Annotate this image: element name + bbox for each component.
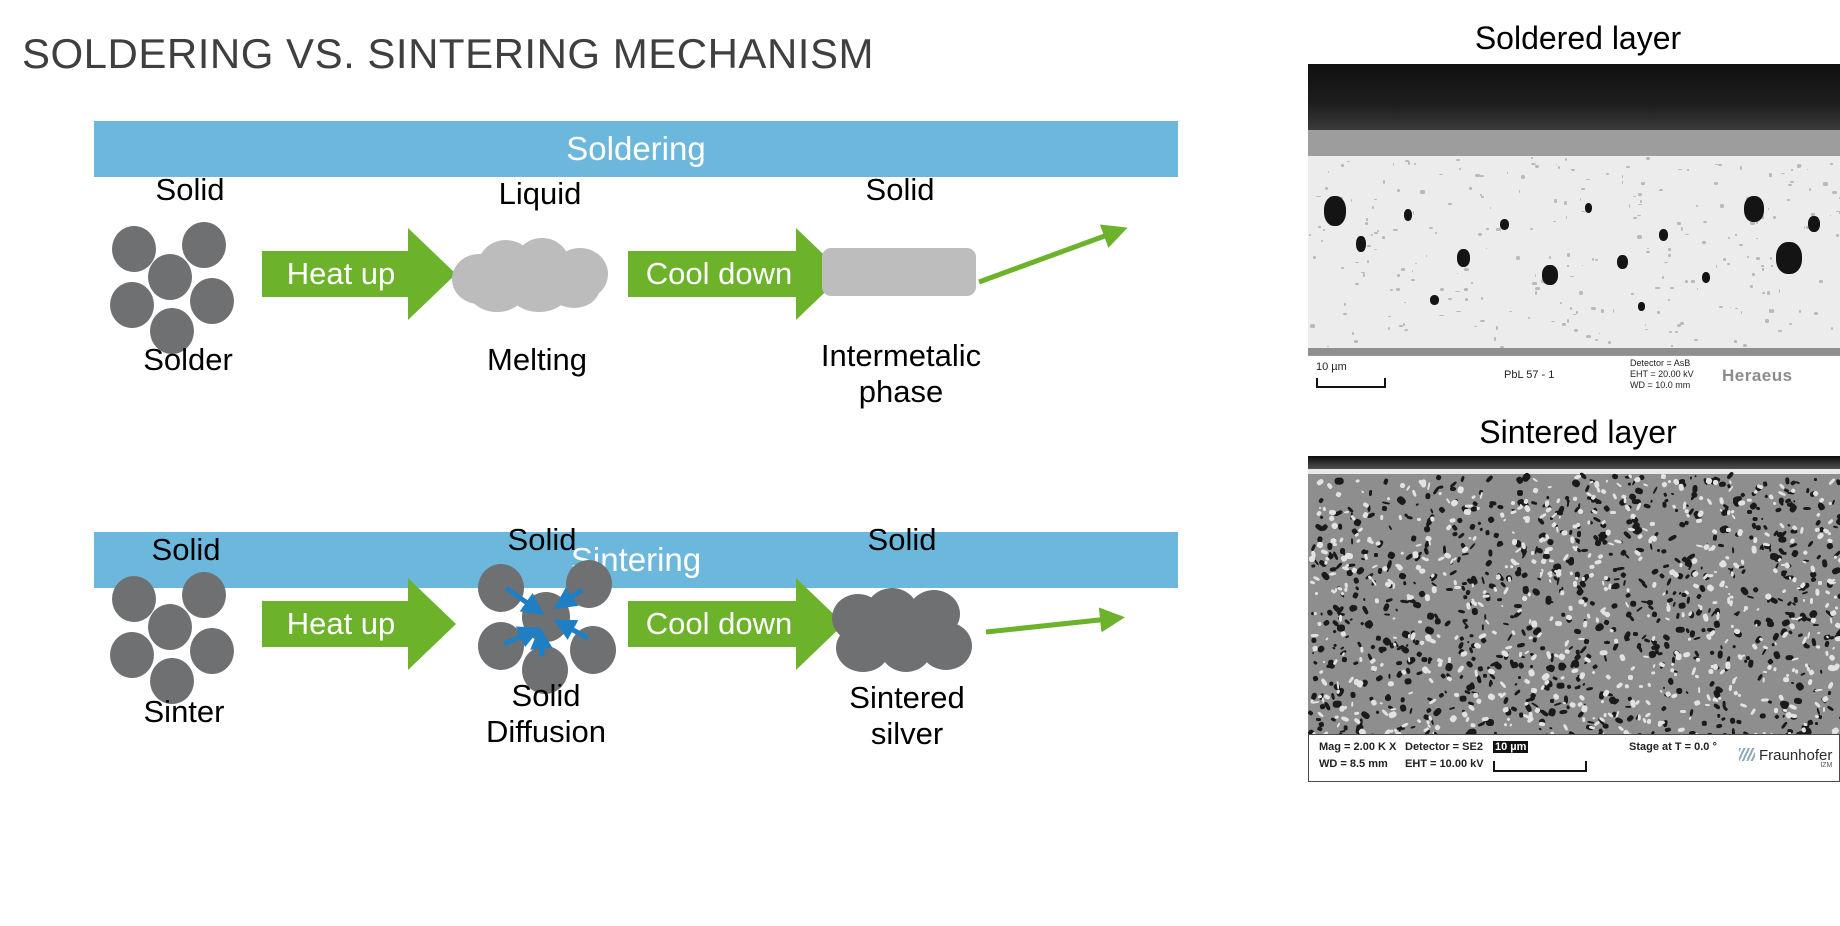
fraunhofer-mark-icon [1739,748,1755,761]
particle [148,604,192,650]
step-name-solid-diffusion: Solid Diffusion [448,678,644,749]
caption-eht: EHT = 20.00 kV [1630,369,1694,379]
micrograph-sintered-layer: Mag = 2.00 K X WD = 8.5 mm Detector = SE… [1308,456,1840,782]
particle [112,226,156,272]
particle [182,222,226,268]
particle [570,626,616,674]
caption-stage-tilt: Stage at T = 0.0 ° [1629,741,1717,753]
micrograph-soldered-image: 10 µm PbL 57 - 1 Detector = AsB EHT = 20… [1308,64,1840,394]
step-name-intermetallic-phase: Intermetalic phase [808,338,994,409]
particle [478,622,524,670]
micrograph-title-soldered: Soldered layer [1318,20,1838,48]
micrograph-title-sintered: Sintered layer [1318,414,1838,442]
section-header-soldering-label: Soldering [566,130,705,168]
step-name-melting: Melting [442,342,632,378]
particle [190,278,234,324]
transition-label-cool-down-soldering: Cool down [628,256,848,292]
step-name-solder: Solder [98,342,278,378]
shape-solder-powder [110,222,260,342]
brand-heraeus-logo: Heraeus [1722,366,1793,386]
particle [182,572,226,618]
transition-arrow-heat-up-soldering: Heat up [262,228,458,320]
step-name-sinter: Sinter [94,694,274,730]
particle [110,632,154,678]
particle [566,560,612,608]
state-label-imc-solid: Solid [810,172,990,208]
slide-canvas: SOLDERING VS. SINTERING MECHANISM Solder… [0,0,1840,926]
page-title: SOLDERING VS. SINTERING MECHANISM [22,30,874,78]
particle [110,282,154,328]
micrograph-sintered-image: Mag = 2.00 K X WD = 8.5 mm Detector = SE… [1308,456,1840,782]
scale-bar [1316,378,1386,388]
state-label-solder-solid: Solid [100,172,280,208]
caption-sample-id: PbL 57 - 1 [1504,369,1554,381]
transition-arrow-heat-up-sintering: Heat up [262,578,458,670]
micrograph-soldered-caption: 10 µm PbL 57 - 1 Detector = AsB EHT = 20… [1308,355,1840,394]
section-header-soldering: Soldering [94,121,1178,177]
step-name-sintered-silver: Sintered silver [812,680,1002,751]
connector-arrow-to-soldered-layer [975,220,1135,290]
micrograph-sintered-caption: Mag = 2.00 K X WD = 8.5 mm Detector = SE… [1308,734,1840,782]
transition-label-heat-up-sintering: Heat up [262,606,458,642]
state-label-melting-liquid: Liquid [450,176,630,212]
shape-diffusion-cluster [478,560,638,694]
state-label-sinter-solid: Solid [96,532,276,568]
caption-eht: EHT = 10.00 kV [1405,758,1484,770]
shape-sinter-powder [110,572,260,694]
caption-detector: Detector = SE2 [1405,741,1483,753]
caption-detector: Detector = AsB [1630,358,1690,368]
state-label-sintered-solid: Solid [812,522,992,558]
caption-scale-label: 10 µm [1493,741,1528,753]
state-label-diffusion-solid: Solid [452,522,632,558]
micrograph-soldered-layer: 10 µm PbL 57 - 1 Detector = AsB EHT = 20… [1308,64,1840,394]
transition-label-cool-down-sintering: Cool down [628,606,848,642]
transition-arrow-cool-down-sintering: Cool down [628,578,848,670]
shape-molten-blob [452,238,612,314]
brand-fraunhofer-sub: IZM [1820,762,1832,769]
particle [112,576,156,622]
shape-sintered-blob [832,588,978,674]
connector-arrow-to-sintered-layer [982,600,1132,650]
transition-arrow-cool-down-soldering: Cool down [628,228,848,320]
caption-wd: WD = 8.5 mm [1319,758,1388,770]
caption-mag: Mag = 2.00 K X [1319,741,1396,753]
caption-wd: WD = 10.0 mm [1630,380,1690,390]
particle [478,564,524,612]
particle-center [522,592,570,642]
particle [148,254,192,300]
scale-bar [1493,761,1587,772]
brand-fraunhofer-logo: Fraunhofer IZM [1759,747,1832,764]
caption-scale-label: 10 µm [1316,361,1347,373]
particle [190,628,234,674]
transition-label-heat-up-soldering: Heat up [262,256,458,292]
